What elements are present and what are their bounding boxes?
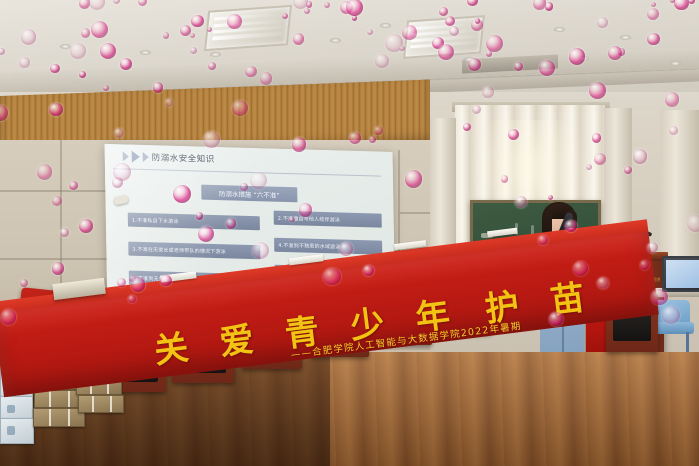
downlight-icon (210, 52, 221, 57)
ceiling-light-panel (204, 5, 292, 51)
downlight-icon (578, 56, 589, 61)
ceiling-light-panel (403, 15, 485, 59)
downlight-icon (60, 44, 71, 49)
downlight-icon (620, 35, 631, 40)
wall-seam (0, 258, 108, 260)
downlight-icon (554, 27, 565, 32)
downlight-icon (670, 61, 681, 66)
downlight-icon (140, 50, 151, 55)
downlight-icon (464, 57, 475, 62)
downlight-icon (380, 23, 391, 28)
banner-title-left: 关 爱 青 少 年 (151, 285, 462, 372)
photo-scene: 防溺水安全知识 防溺水措施 “六不准” 1.不准私自下水游泳 3.不准在无家长或… (0, 0, 699, 466)
monitor (662, 256, 699, 292)
downlight-icon (330, 38, 341, 43)
wall-pillar (660, 110, 699, 260)
monitor-screen (666, 260, 699, 288)
wall-seam (0, 190, 110, 192)
